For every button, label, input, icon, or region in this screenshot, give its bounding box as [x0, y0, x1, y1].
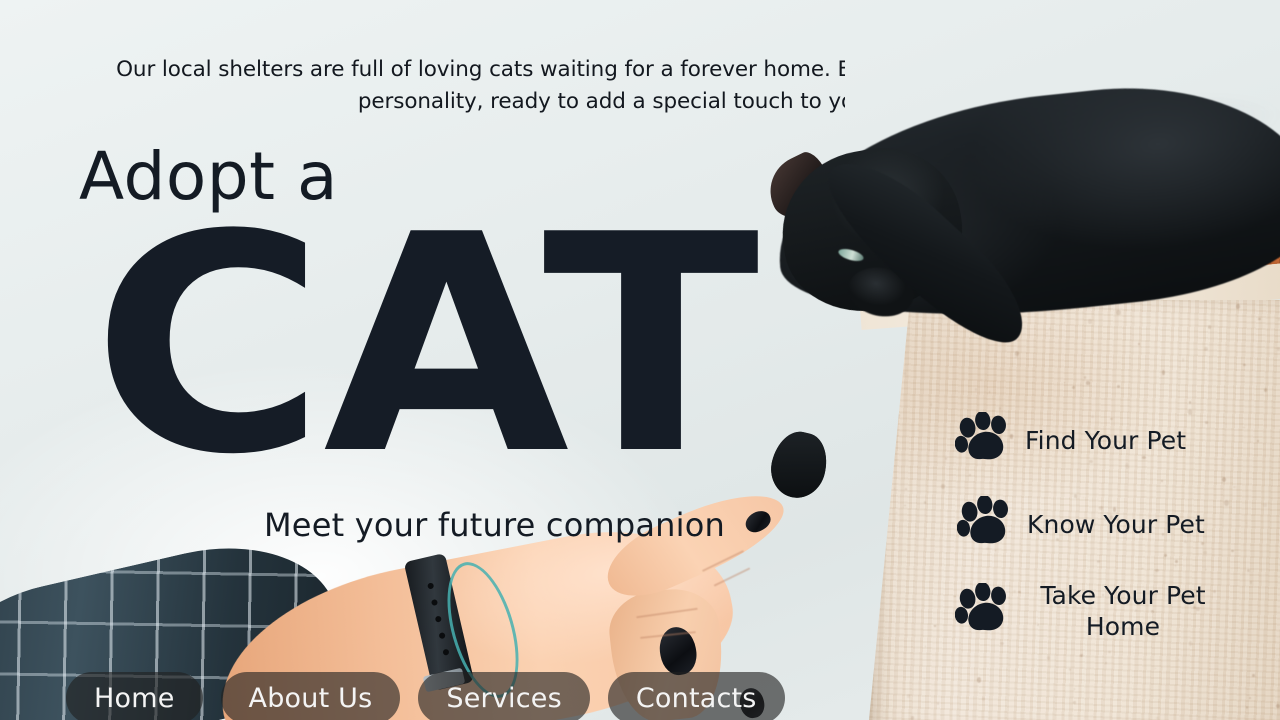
paw-icon [955, 583, 1013, 639]
feature-item-find-your-pet[interactable]: Find Your Pet [955, 412, 1255, 468]
nav-item-services[interactable]: Services [418, 672, 589, 720]
paw-icon [957, 496, 1015, 552]
feature-item-know-your-pet[interactable]: Know Your Pet [957, 496, 1255, 552]
nav-item-home[interactable]: Home [66, 672, 203, 720]
hero-banner: Our local shelters are full of loving ca… [0, 0, 1280, 720]
feature-item-take-your-pet-home[interactable]: Take Your Pet Home [955, 580, 1255, 642]
feature-label: Know Your Pet [1027, 509, 1205, 540]
feature-list: Find Your Pet Know Your Pet [955, 412, 1255, 642]
hero-tagline: Meet your future companion [264, 505, 725, 545]
hero-wordmark: CAT [92, 196, 757, 496]
feature-label: Take Your Pet Home [1025, 580, 1221, 642]
paw-icon [955, 412, 1013, 468]
feature-label: Find Your Pet [1025, 425, 1186, 456]
main-navigation: Home About Us Services Contacts [66, 672, 785, 720]
nav-item-contacts[interactable]: Contacts [608, 672, 785, 720]
nav-item-about-us[interactable]: About Us [221, 672, 401, 720]
